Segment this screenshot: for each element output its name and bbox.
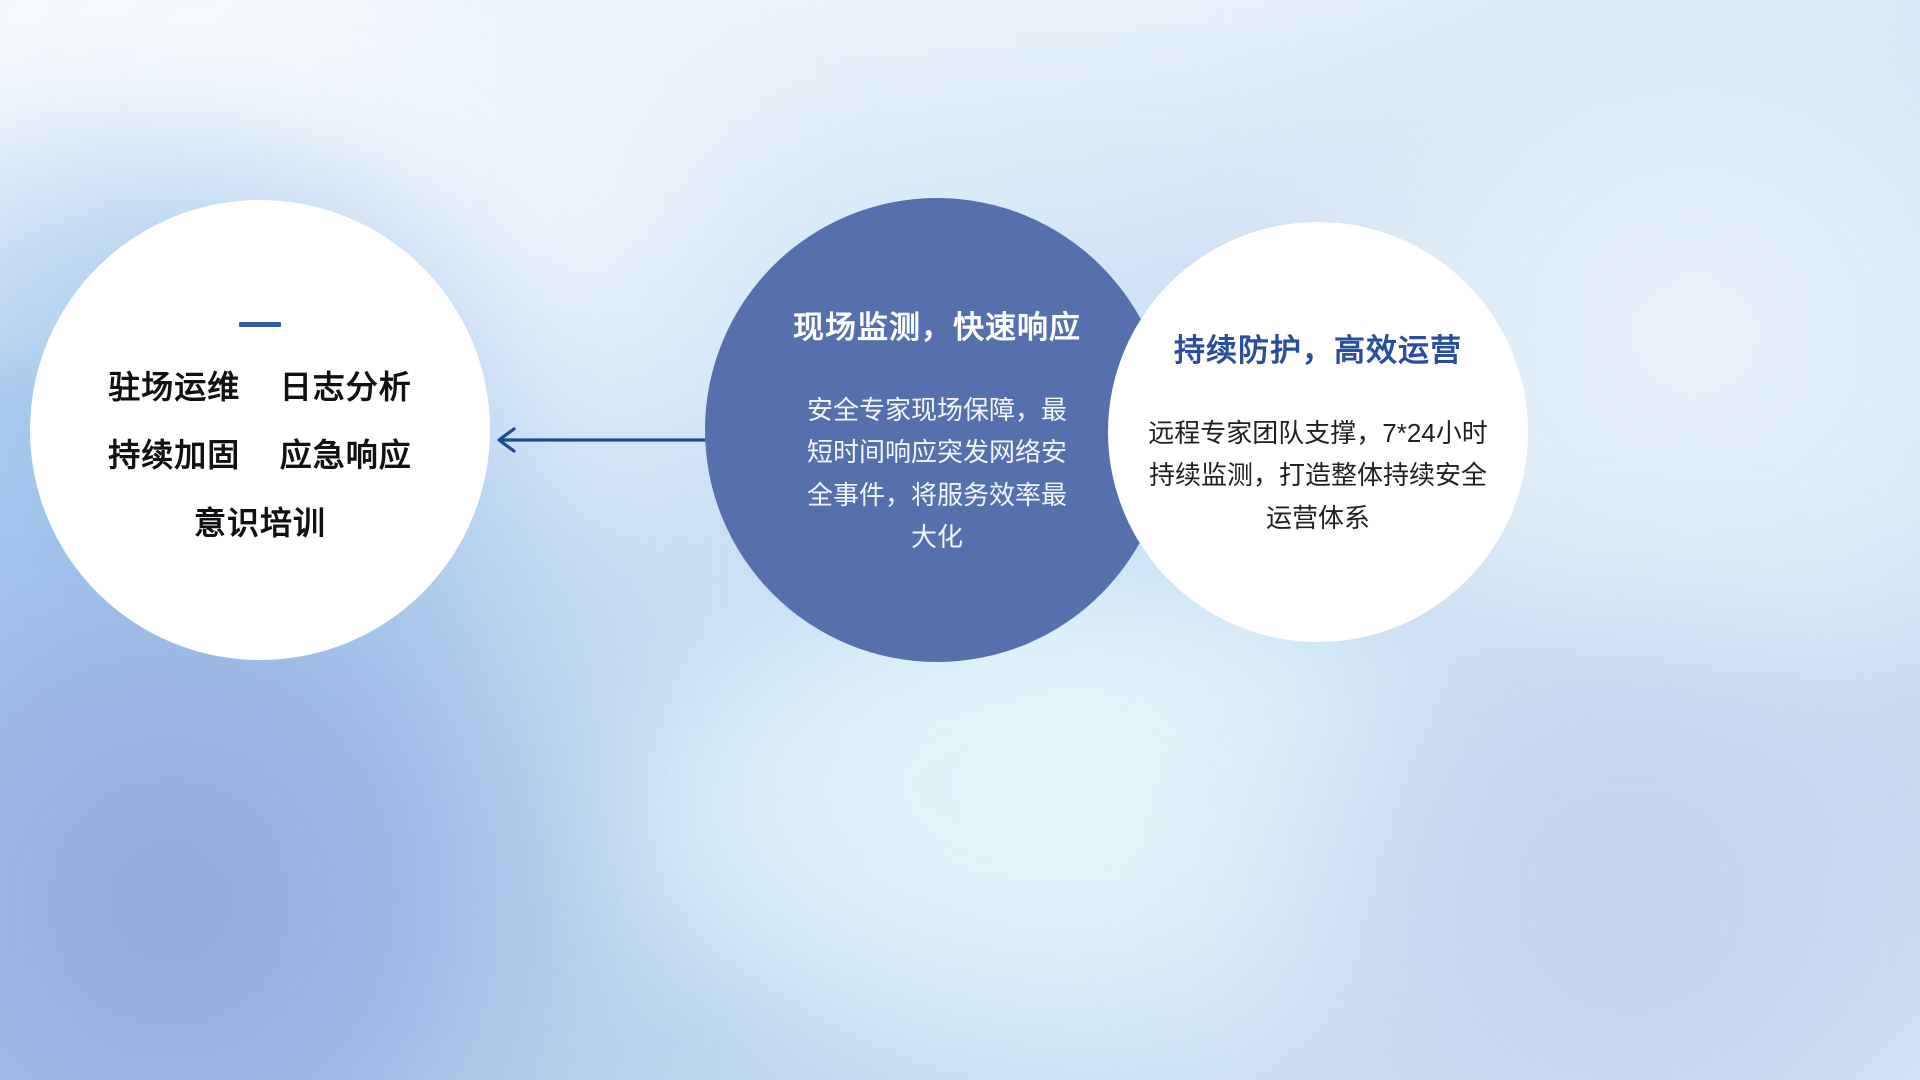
left-circle-line-3: 意识培训 — [194, 507, 326, 539]
dash-divider-icon — [239, 322, 281, 327]
mid-monitoring-circle[interactable]: 现场监测，快速响应 安全专家现场保障，最短时间响应突发网络安全事件，将服务效率最… — [705, 198, 1169, 662]
leftward-arrow-icon — [480, 418, 730, 462]
mid-circle-title: 现场监测，快速响应 — [793, 302, 1081, 347]
diagram-stage: 驻场运维 日志分析 持续加固 应急响应 意识培训 现场监测，快速响应 安全专家现… — [0, 0, 1920, 1080]
right-circle-title: 持续防护，高效运营 — [1174, 325, 1462, 370]
right-circle-body: 远程专家团队支撑，7*24小时持续监测，打造整体持续安全运营体系 — [1142, 412, 1494, 538]
left-service-circle[interactable]: 驻场运维 日志分析 持续加固 应急响应 意识培训 — [30, 200, 490, 660]
mid-circle-body: 安全专家现场保障，最短时间响应突发网络安全事件，将服务效率最大化 — [797, 389, 1077, 557]
right-operations-circle[interactable]: 持续防护，高效运营 远程专家团队支撑，7*24小时持续监测，打造整体持续安全运营… — [1108, 222, 1528, 642]
left-circle-line-2: 持续加固 应急响应 — [108, 439, 412, 471]
left-circle-line-1: 驻场运维 日志分析 — [108, 371, 412, 403]
